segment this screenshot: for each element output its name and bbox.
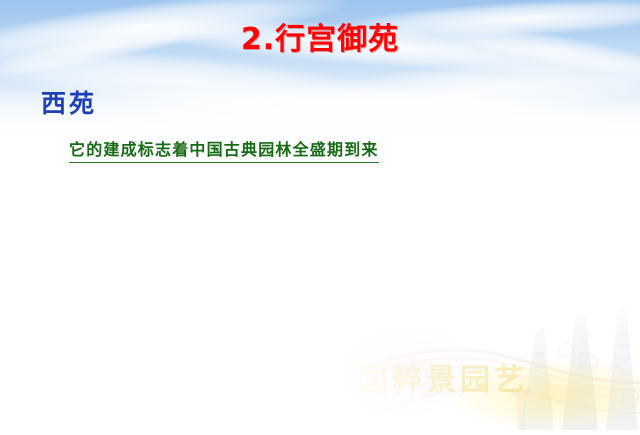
slide-title: 2.行宫御苑: [0, 21, 640, 59]
chinese-architecture-icon: [330, 290, 640, 435]
section-heading: 西苑: [41, 89, 97, 119]
decorative-watermark: 国粹景园艺: [330, 290, 640, 435]
presentation-slide: 2.行宫御苑 西苑 它的建成标志着中国古典园林全盛期到来: [0, 0, 640, 435]
watermark-text: 国粹景园艺: [358, 355, 528, 399]
watermark-glow: [330, 290, 640, 435]
body-text-line: 它的建成标志着中国古典园林全盛期到来: [69, 139, 379, 163]
watermark-edge-fade: [330, 290, 640, 435]
